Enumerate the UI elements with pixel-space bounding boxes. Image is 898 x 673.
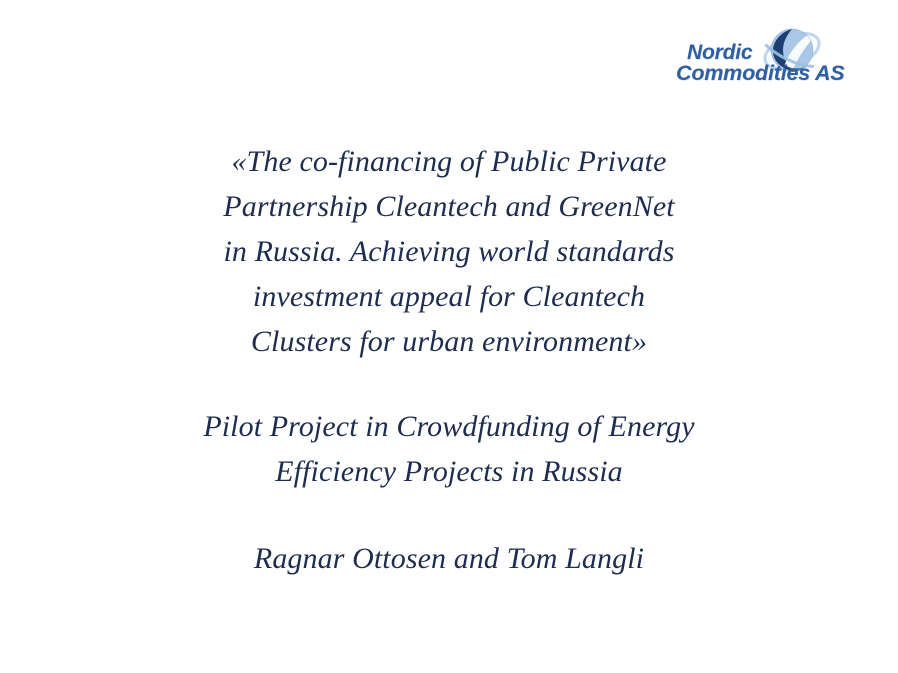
title-line-4: investment appeal for Cleantech	[139, 274, 759, 319]
title-line-5: Clusters for urban environment»	[139, 319, 759, 364]
page-title: «The co-financing of Public Private Part…	[139, 139, 759, 364]
slide-content: «The co-financing of Public Private Part…	[0, 0, 898, 581]
title-slide: Nordic Commodities AS «The co-financing …	[0, 0, 898, 673]
title-subtitle-spacer	[0, 364, 898, 404]
authors-line: Ragnar Ottosen and Tom Langli	[0, 536, 898, 581]
title-line-2: Partnership Cleantech and GreenNet	[139, 184, 759, 229]
subtitle-line-2: Efficiency Projects in Russia	[109, 449, 789, 494]
page-subtitle: Pilot Project in Crowdfunding of Energy …	[109, 404, 789, 494]
subtitle-line-1: Pilot Project in Crowdfunding of Energy	[109, 404, 789, 449]
subtitle-authors-spacer	[0, 494, 898, 536]
title-line-1: «The co-financing of Public Private	[139, 139, 759, 184]
title-line-3: in Russia. Achieving world standards	[139, 229, 759, 274]
